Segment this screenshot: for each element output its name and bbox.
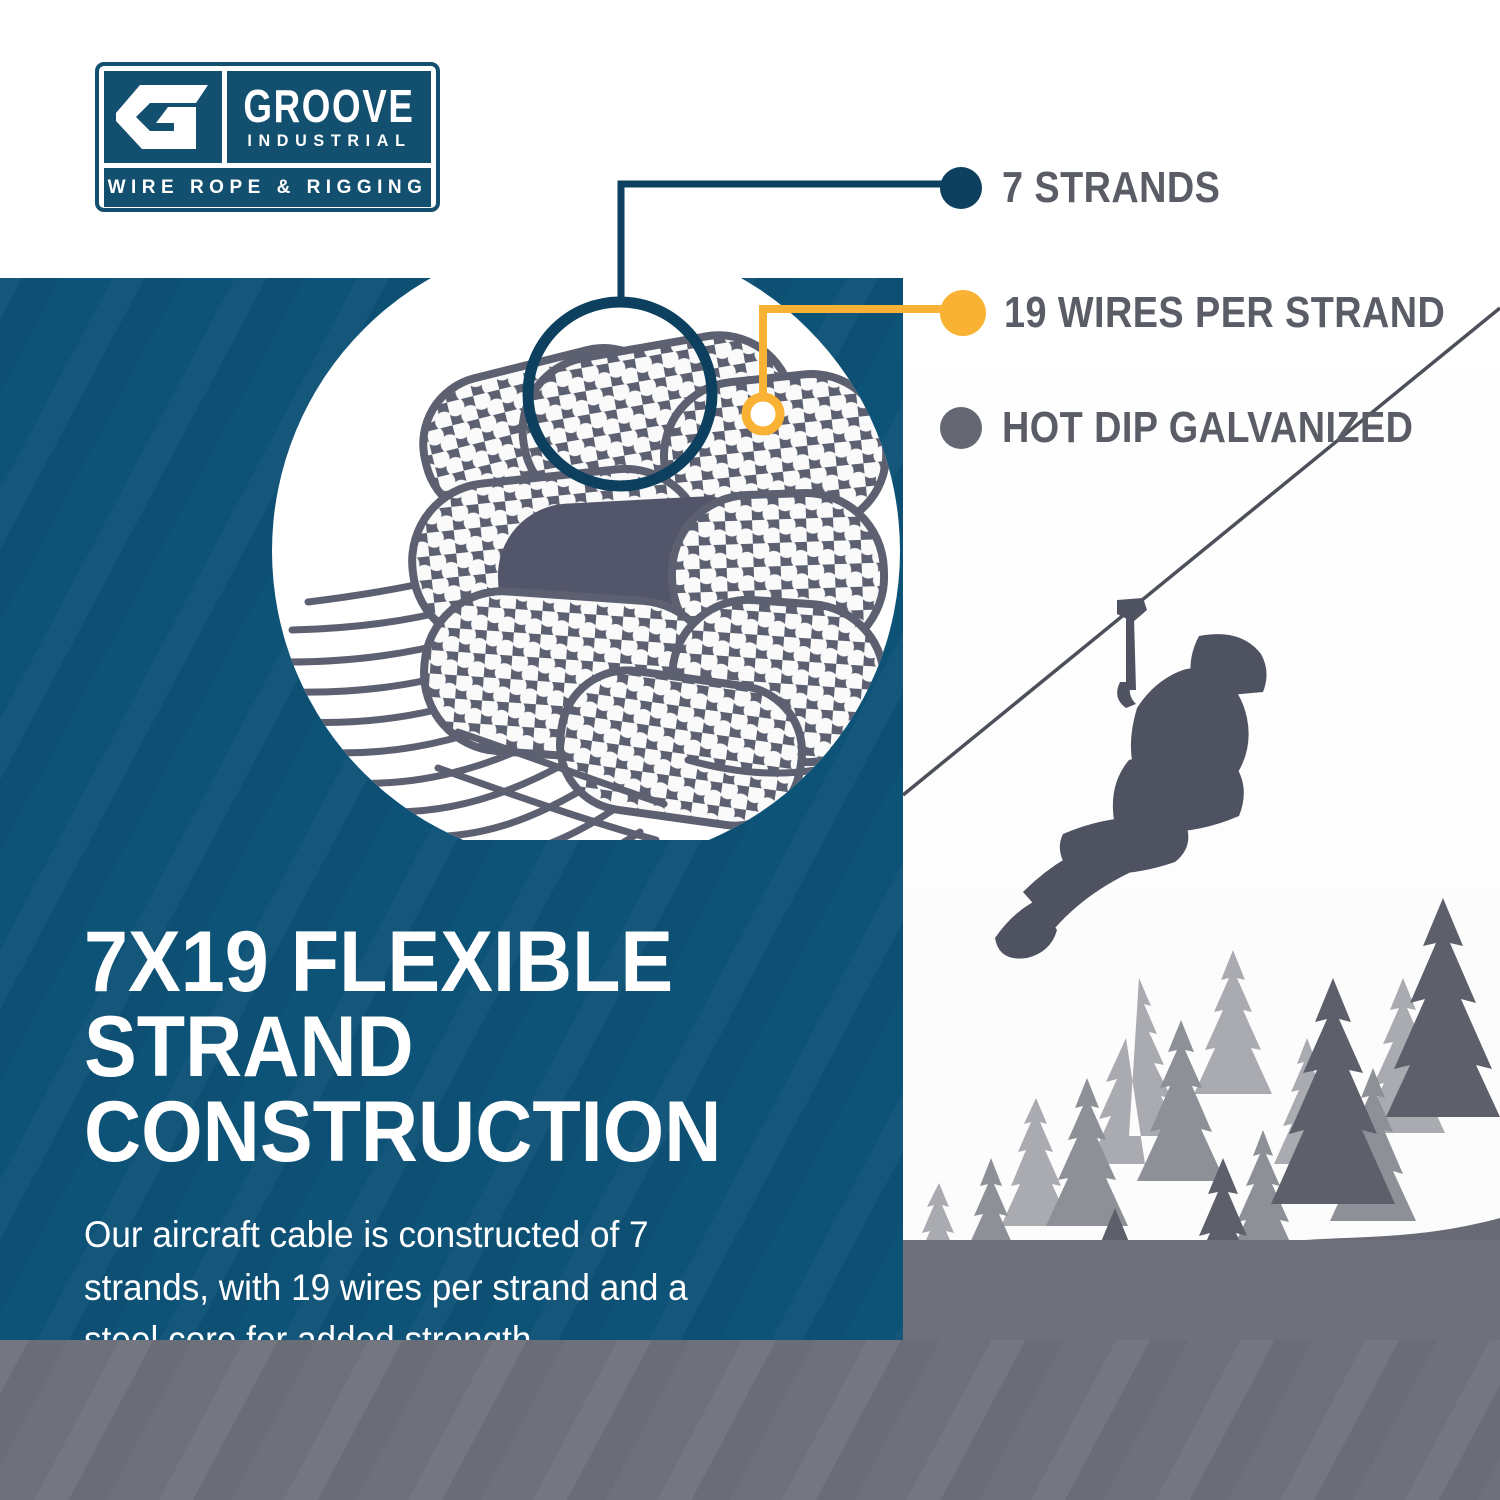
headline-line-2: STRAND CONSTRUCTION <box>84 1005 811 1175</box>
brand-subtitle: INDUSTRIAL <box>247 132 411 149</box>
brand-name: GROOVE <box>243 85 414 128</box>
callout-label-galvanized: HOT DIP GALVANIZED <box>1002 403 1413 453</box>
scene-ground-band <box>903 1240 1500 1340</box>
brand-wordmark: GROOVE INDUSTRIAL <box>227 71 431 163</box>
bullet-dot-gray-icon <box>940 407 982 449</box>
bullet-dot-navy-icon <box>940 167 982 209</box>
page-title: 7X19 FLEXIBLE STRAND CONSTRUCTION <box>84 920 811 1175</box>
callout-19-wires: 19 WIRES PER STRAND <box>940 288 1500 338</box>
groove-g-monogram-icon <box>104 71 222 163</box>
footer-stripe-texture <box>0 1340 1500 1500</box>
wire-rope-illustration <box>268 262 908 840</box>
headline-block: 7X19 FLEXIBLE STRAND CONSTRUCTION Our ai… <box>84 920 874 1367</box>
callout-label-wires: 19 WIRES PER STRAND <box>1004 288 1445 338</box>
callout-label-strands: 7 STRANDS <box>1002 163 1220 213</box>
callout-7-strands: 7 STRANDS <box>940 163 1256 213</box>
bullet-dot-orange-icon <box>940 290 986 336</box>
infographic-canvas: 7 STRANDS 19 WIRES PER STRAND HOT DIP GA… <box>0 0 1500 1500</box>
brand-tagline-bar: WIRE ROPE & RIGGING <box>104 168 431 207</box>
brand-logo[interactable]: GROOVE INDUSTRIAL WIRE ROPE & RIGGING <box>95 62 440 212</box>
headline-line-1: 7X19 FLEXIBLE <box>84 914 673 1010</box>
footer-gray-band <box>0 1340 1500 1500</box>
callout-hot-dip-galvanized: HOT DIP GALVANIZED <box>940 403 1480 453</box>
brand-tagline: WIRE ROPE & RIGGING <box>108 177 428 199</box>
